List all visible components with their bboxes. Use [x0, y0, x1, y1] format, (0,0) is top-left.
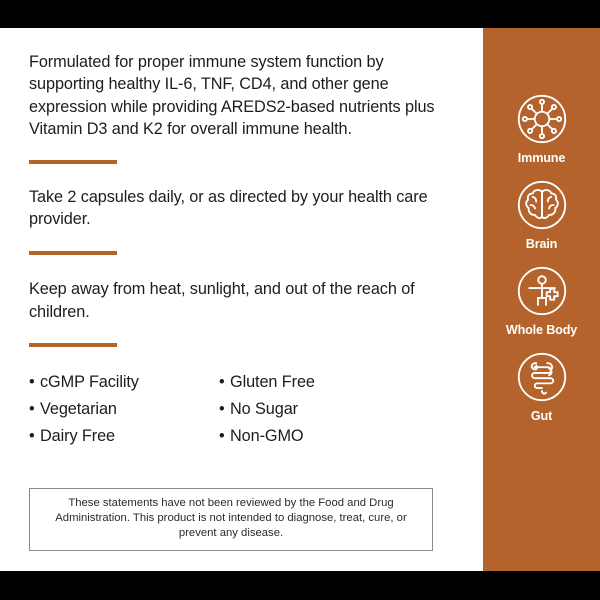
benefits-sidebar: Immune Brain: [483, 28, 600, 571]
letterbox-bottom: [0, 571, 600, 600]
list-item-label: Vegetarian: [40, 400, 117, 418]
list-item-label: Gluten Free: [230, 373, 315, 391]
bullet-dot-icon: •: [29, 369, 40, 396]
fda-disclaimer-box: These statements have not been reviewed …: [29, 488, 433, 551]
bullet-column-left: •cGMP Facility •Vegetarian •Dairy Free: [29, 369, 219, 450]
sidebar-item-whole-body[interactable]: Whole Body: [483, 262, 600, 337]
list-item: •cGMP Facility: [29, 369, 219, 396]
list-item-label: No Sugar: [230, 400, 298, 418]
gut-intestines-icon: [513, 348, 571, 406]
list-item: •Vegetarian: [29, 396, 219, 423]
fda-disclaimer-text: These statements have not been reviewed …: [55, 497, 406, 539]
immune-virus-icon: [513, 90, 571, 148]
letterbox-top: [0, 0, 600, 28]
feature-bullet-list: •cGMP Facility •Vegetarian •Dairy Free •…: [29, 369, 453, 450]
sidebar-item-label: Gut: [531, 409, 552, 423]
sidebar-item-label: Immune: [518, 151, 565, 165]
sidebar-item-brain[interactable]: Brain: [483, 176, 600, 251]
paragraph-dosage: Take 2 capsules daily, or as directed by…: [29, 186, 453, 231]
list-item-label: cGMP Facility: [40, 373, 139, 391]
bullet-dot-icon: •: [219, 396, 230, 423]
bullet-dot-icon: •: [219, 423, 230, 450]
sidebar-item-immune[interactable]: Immune: [483, 90, 600, 165]
paragraph-formulation: Formulated for proper immune system func…: [29, 51, 453, 141]
bullet-column-right: •Gluten Free •No Sugar •Non-GMO: [219, 369, 315, 450]
list-item: •No Sugar: [219, 396, 315, 423]
list-item-label: Dairy Free: [40, 427, 115, 445]
bullet-dot-icon: •: [29, 423, 40, 450]
content-column: Formulated for proper immune system func…: [0, 28, 483, 571]
product-info-card: Formulated for proper immune system func…: [0, 28, 600, 571]
sidebar-item-gut[interactable]: Gut: [483, 348, 600, 423]
list-item: •Gluten Free: [219, 369, 315, 396]
sidebar-item-label: Whole Body: [506, 323, 577, 337]
sidebar-item-label: Brain: [526, 237, 557, 251]
bullet-dot-icon: •: [29, 396, 40, 423]
screenshot-frame: Formulated for proper immune system func…: [0, 0, 600, 600]
paragraph-storage: Keep away from heat, sunlight, and out o…: [29, 278, 453, 323]
list-item: •Dairy Free: [29, 423, 219, 450]
brain-icon: [513, 176, 571, 234]
list-item: •Non-GMO: [219, 423, 315, 450]
bullet-dot-icon: •: [219, 369, 230, 396]
whole-body-figure-icon: [513, 262, 571, 320]
list-item-label: Non-GMO: [230, 427, 303, 445]
